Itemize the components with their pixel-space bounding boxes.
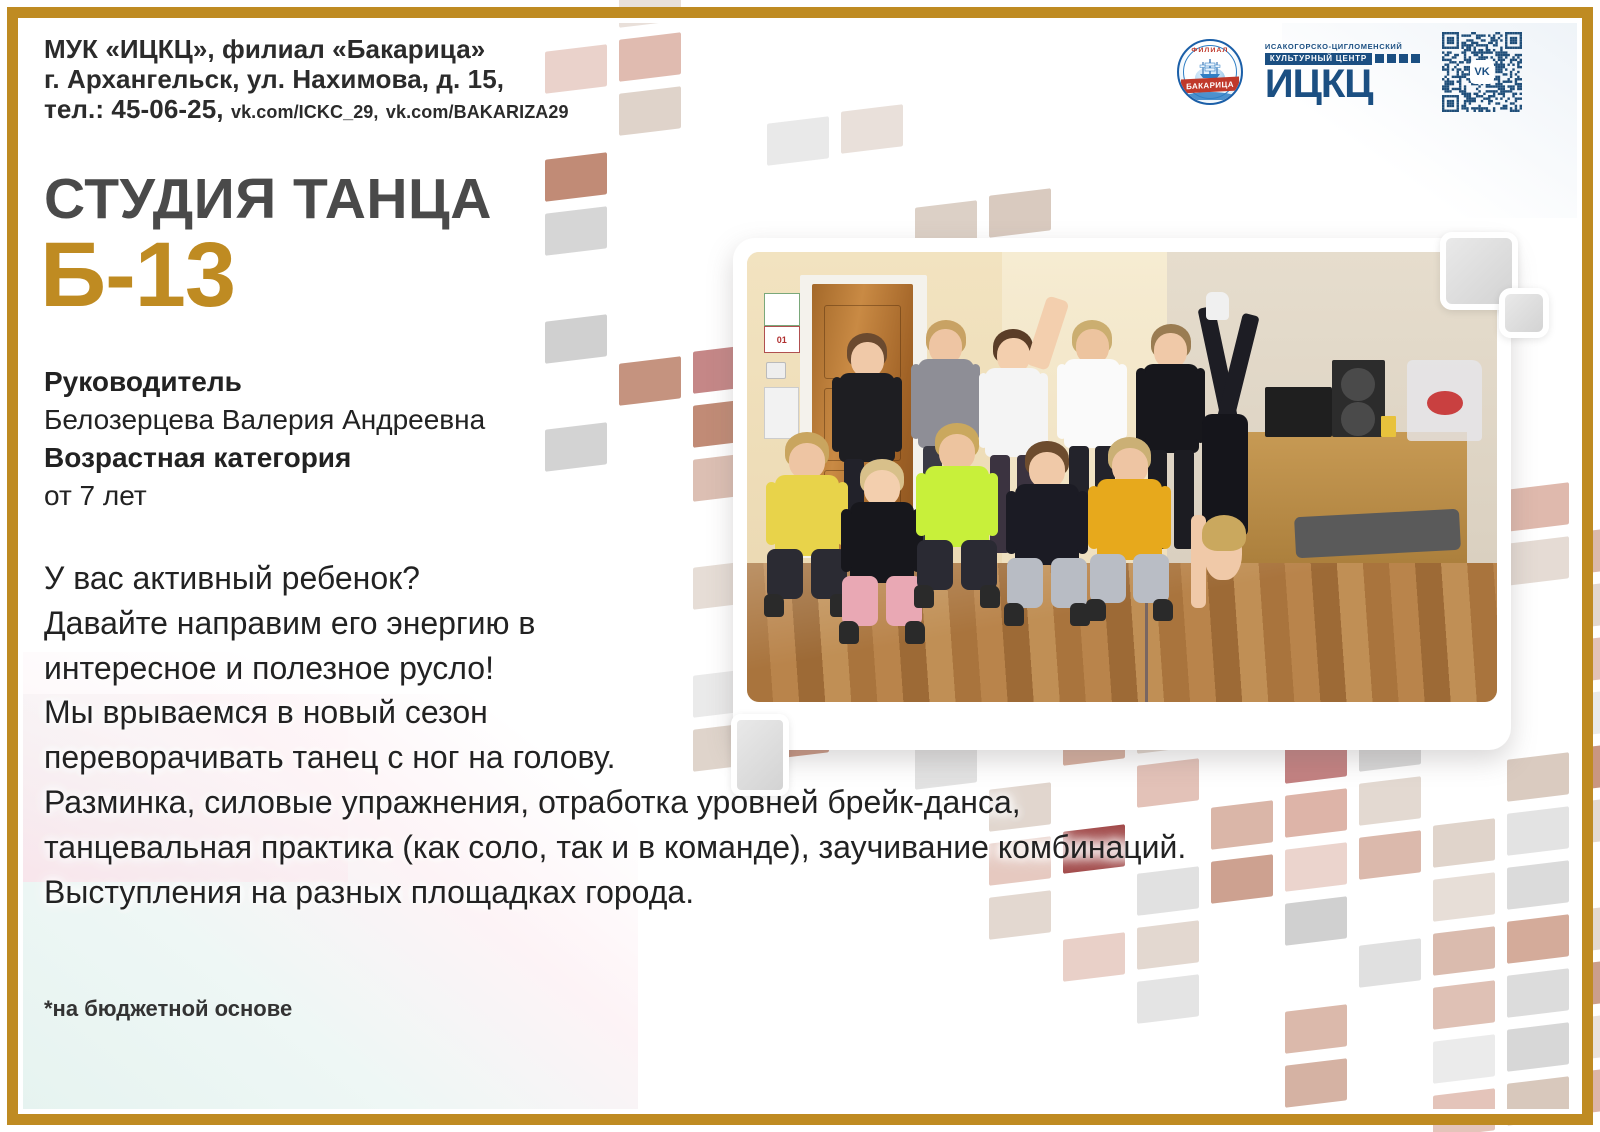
organization-header: МУК «ИЦКЦ», филиал «Бакарица» г. Арханге… [44,34,569,124]
itckc-block-decor [1375,54,1420,63]
decor-tile [1581,632,1600,682]
itckc-logo: ИСАКОГОРСКО-ЦИГЛОМЕНСКИЙ КУЛЬТУРНЫЙ ЦЕНТ… [1265,42,1420,103]
description-line: Разминка, силовые упражнения, отработка … [44,780,1186,825]
decor-tile [545,314,607,364]
dance-studio-group-photo: 01 [747,252,1497,702]
decor-tile [619,32,681,82]
photo-light-switch [766,362,786,378]
org-address-line: г. Архангельск, ул. Нахимова, д. 15, [44,64,569,94]
photo-yellow-cup [1381,416,1396,436]
decor-tile [1211,854,1273,904]
photo-wall-paper [764,387,799,439]
emblem-arc-text: ФИЛИАЛ [1179,47,1241,53]
itckc-wordmark: ИЦКЦ [1265,66,1420,103]
decor-tile [619,86,681,136]
decor-tile [1285,788,1347,838]
decor-tile [1581,902,1600,952]
decor-tile [1507,968,1569,1018]
page-title-name: Б-13 [40,229,235,321]
decor-tile [1581,956,1600,1006]
org-phone: тел.: 45-06-25, [44,94,224,124]
decor-tile [545,206,607,256]
description-line: Выступления на разных площадках города. [44,870,1186,915]
decor-tile [1433,980,1495,1030]
decor-tile [619,356,681,406]
photo-plastic-bag [1407,360,1482,441]
decor-tile [1507,1022,1569,1072]
decor-tile [1063,932,1125,982]
decor-tile [1581,686,1600,736]
page-title-studio: СТУДИЯ ТАНЦА [44,166,492,232]
photo-rolled-mat [1294,509,1461,558]
decor-square-corner [731,714,789,796]
budget-note: *на бюджетной основе [44,996,292,1022]
decor-tile [1433,872,1495,922]
decor-tile [1285,842,1347,892]
photo-child [1085,437,1175,662]
vk-link-ickc[interactable]: vk.com/ICKC_29, [231,102,379,122]
decor-tile [1433,1034,1495,1084]
decor-tile [1433,926,1495,976]
decor-tile [1137,974,1199,1024]
vk-badge: VK [1470,60,1494,84]
decor-tile [1507,1076,1569,1126]
decor-tile [1581,740,1600,790]
photo-card: 01 [733,238,1511,750]
decor-tile [1433,1088,1495,1132]
decor-tile [1581,1064,1600,1114]
decor-tile [545,152,607,202]
decor-tile [841,104,903,154]
decor-tile [1581,794,1600,844]
leader-label: Руководитель [44,363,485,401]
photo-wall-sign [764,293,801,327]
org-name-line: МУК «ИЦКЦ», филиал «Бакарица» [44,34,569,64]
decor-tile [1211,800,1273,850]
decor-tile [1285,1004,1347,1054]
photo-speaker [1332,360,1385,437]
decor-tile [1359,776,1421,826]
org-contact-line: тел.: 45-06-25, vk.com/ICKC_29, vk.com/B… [44,94,569,124]
decor-tile [1507,914,1569,964]
vk-link-bakariza[interactable]: vk.com/BAKARIZA29 [386,102,569,122]
poster-canvas: МУК «ИЦКЦ», филиал «Бакарица» г. Арханге… [0,0,1600,1132]
vk-badge-label: VK [1474,66,1489,78]
decor-tile [1507,536,1569,586]
decor-tile [1507,860,1569,910]
photo-child [912,423,1002,648]
logo-group: ФИЛИАЛ БАКАРИЦА ИСАКОГОРСКО-ЦИГЛОМЕНСКИЙ… [1177,32,1522,112]
photo-sign-01: 01 [764,326,801,353]
decor-tile [1359,830,1421,880]
vk-qr-code-icon[interactable]: VK [1442,32,1522,112]
decor-tile [619,0,681,28]
description-line: танцевальная практика (как соло, так и в… [44,825,1186,870]
decor-tile [1137,920,1199,970]
decor-tile [1285,896,1347,946]
studio-details: Руководитель Белозерцева Валерия Андреев… [44,363,485,515]
decor-tile [1581,1010,1600,1060]
photo-child-handstand [1175,306,1280,666]
itckc-top-line: ИСАКОГОРСКО-ЦИГЛОМЕНСКИЙ [1265,42,1420,51]
photo-child [1002,441,1092,666]
age-value: от 7 лет [44,477,485,515]
decor-tile [1581,578,1600,628]
emblem-banner: БАКАРИЦА [1181,76,1239,93]
decor-tile [545,422,607,472]
decor-tile [1507,482,1569,532]
decor-tile [1507,752,1569,802]
age-label: Возрастная категория [44,439,485,477]
emblem-wave [1179,92,1241,100]
decor-square-small [1499,288,1549,338]
decor-tile [1285,1058,1347,1108]
decor-tile [1581,524,1600,574]
decor-tile [1433,818,1495,868]
decor-tile [989,188,1051,238]
emblem-banner-text: БАКАРИЦА [1186,79,1234,91]
leader-value: Белозерцева Валерия Андреевна [44,401,485,439]
decor-tile [1359,938,1421,988]
decor-tile [1507,806,1569,856]
bakaritsa-emblem-icon: ФИЛИАЛ БАКАРИЦА [1177,39,1243,105]
decor-tile [767,116,829,166]
